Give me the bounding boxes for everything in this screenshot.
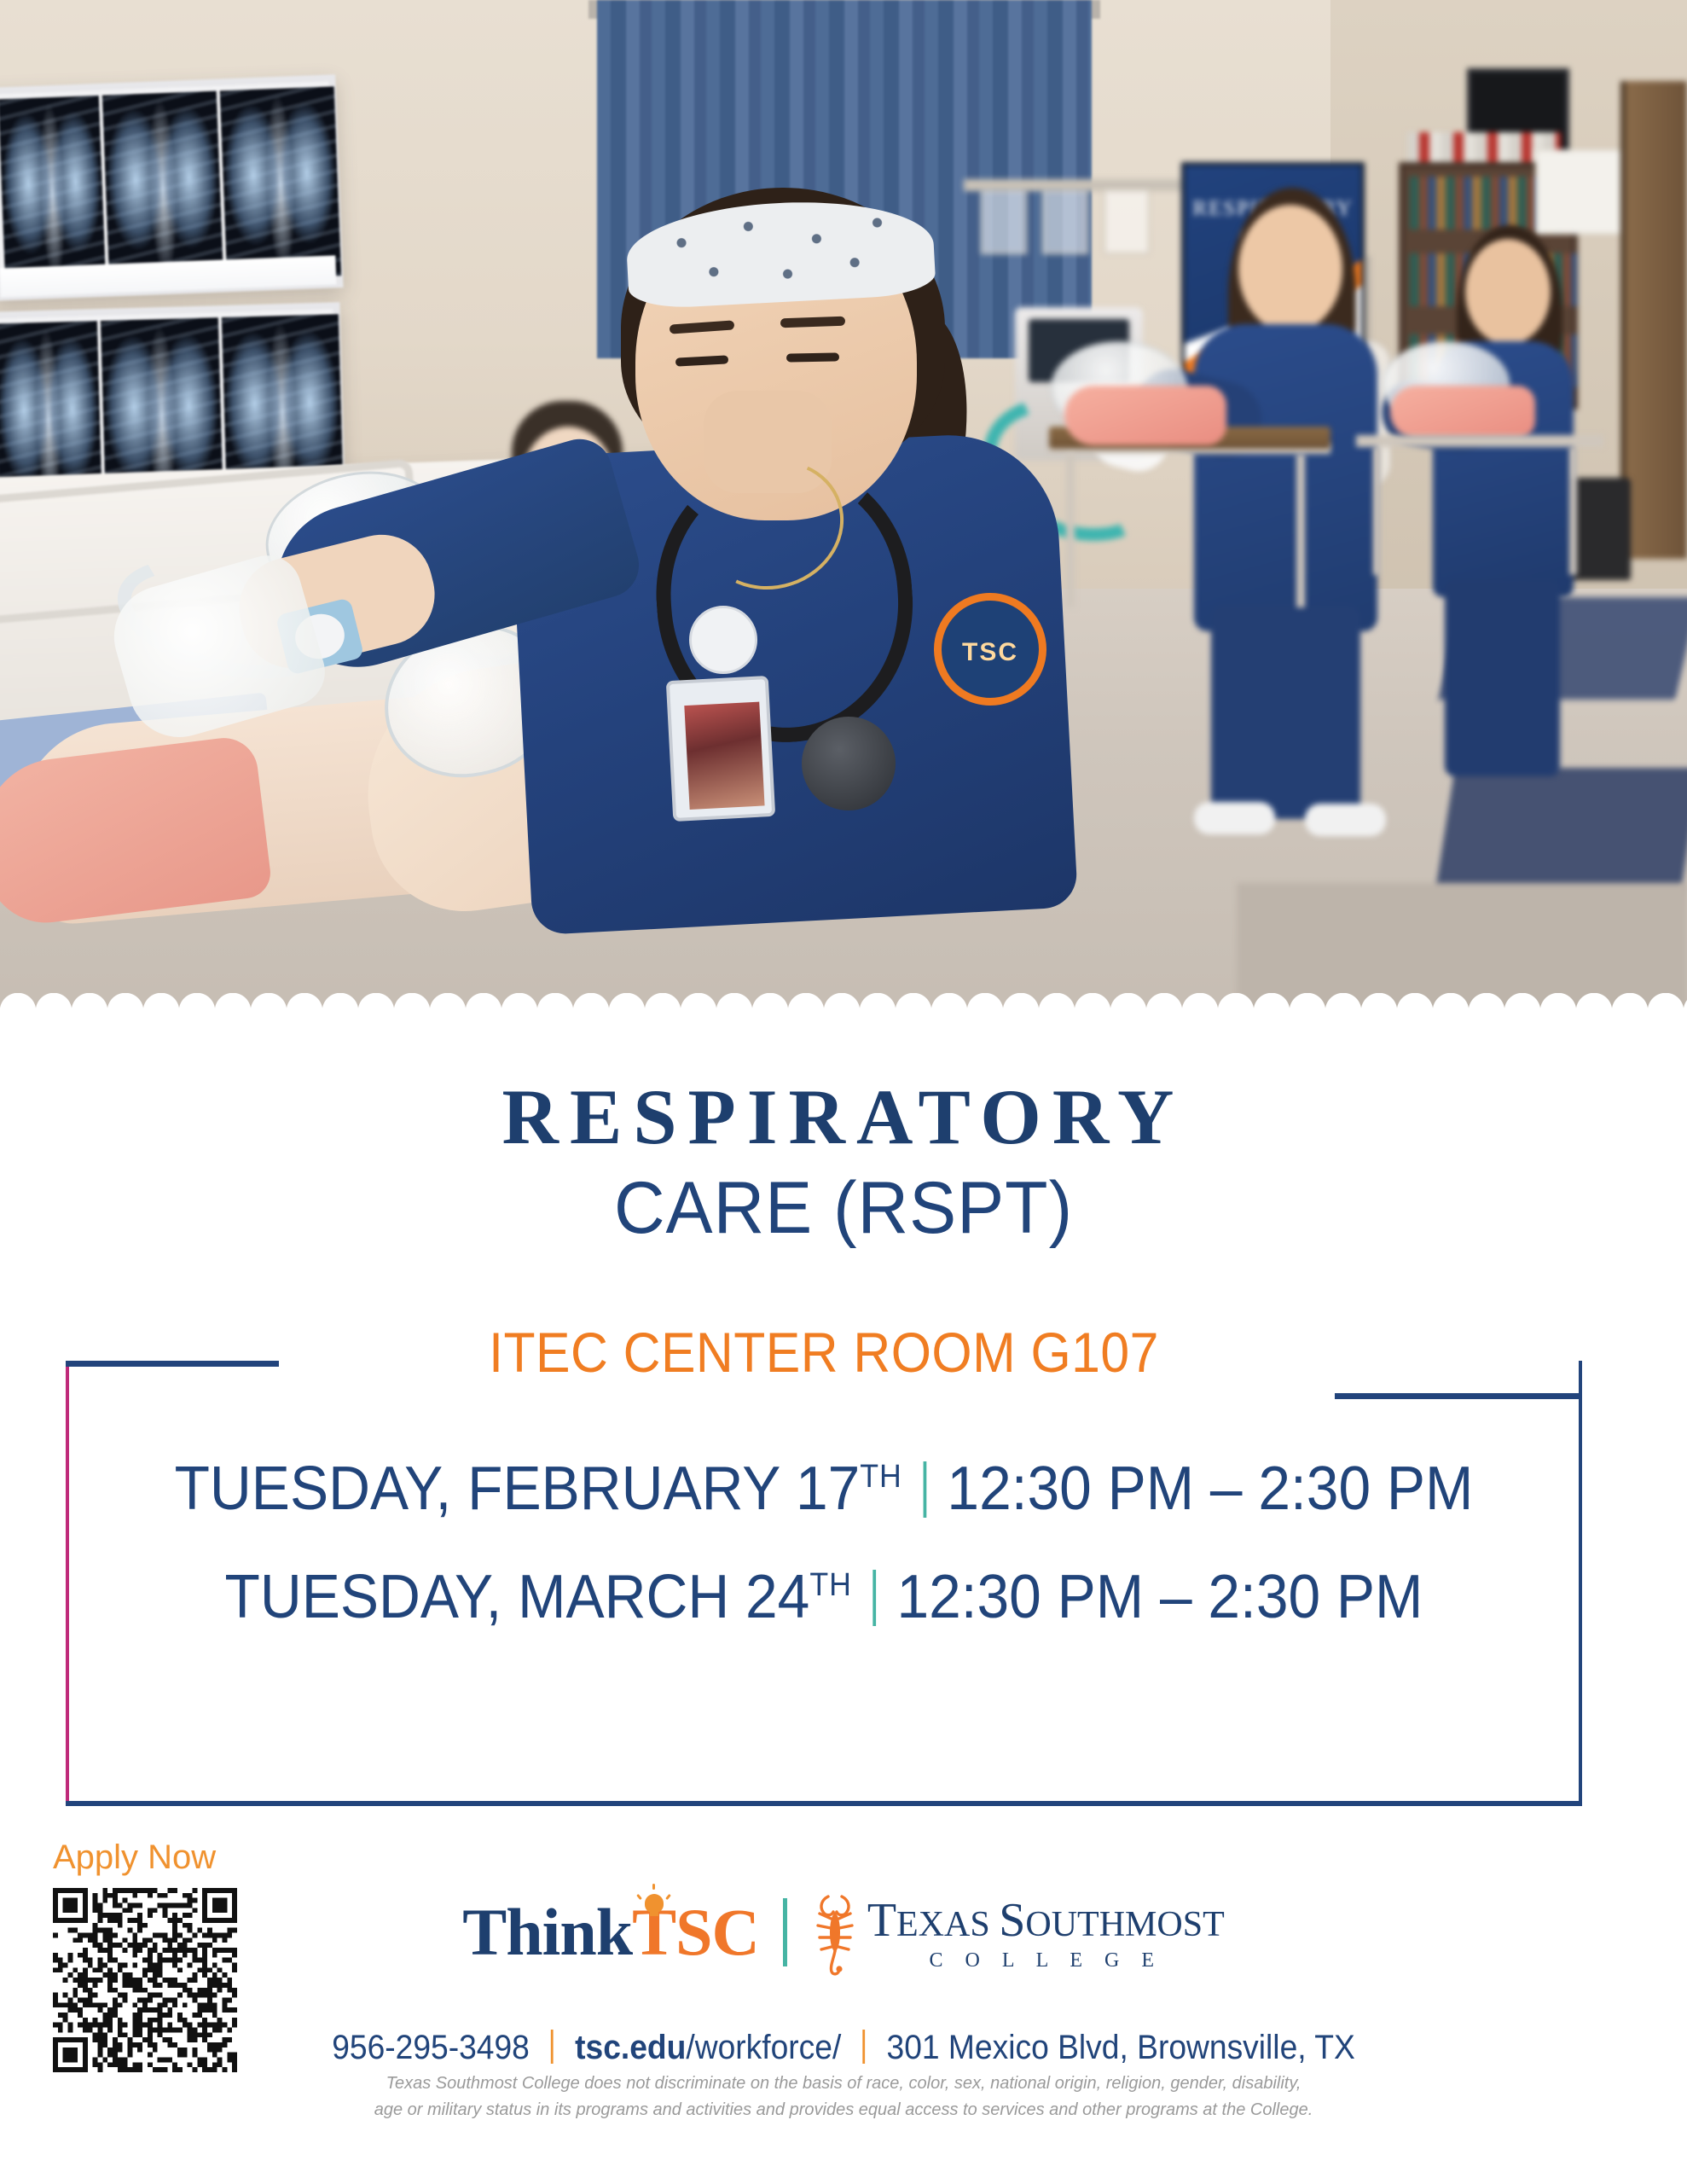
chest-xray: [220, 86, 341, 280]
thinktsc-logo: ThinkTSC: [462, 1894, 759, 1971]
session-time: 12:30 PM – 2:30 PM: [947, 1454, 1473, 1524]
college-name-line: TEXAS SOUTHMOST: [867, 1893, 1225, 1948]
badge-reel: [689, 606, 757, 674]
cart-leg: [1296, 454, 1305, 607]
session-day: TUESDAY, FEBRUARY 17: [175, 1454, 861, 1524]
session-day-suffix: TH: [860, 1459, 901, 1496]
logo-think-text: Think: [462, 1895, 632, 1969]
content-area: RESPIRATORY CARE (RSPT) ITEC CENTER ROOM…: [0, 1028, 1687, 2184]
program-title-line2: CARE (RSPT): [34, 1171, 1654, 1245]
cart-leg: [1569, 447, 1577, 575]
cart-top: [1356, 435, 1603, 447]
box-border-bottom: [66, 1801, 1582, 1806]
disclaimer-line-2: age or military status in its programs a…: [0, 2097, 1687, 2123]
chest-xray: [102, 91, 223, 285]
session-list: TUESDAY, FEBRUARY 17TH 12:30 PM – 2:30 P…: [66, 1453, 1582, 1670]
id-badge: [666, 676, 775, 822]
session-time: 12:30 PM – 2:30 PM: [896, 1562, 1423, 1632]
stethoscope-bell: [802, 717, 896, 810]
logo-divider: [783, 1898, 787, 1966]
lightbulb-icon: [641, 1889, 667, 1918]
cart-leg: [1373, 447, 1381, 575]
texas-southmost-college-logo: TEXAS SOUTHMOST C O L L E G E: [867, 1893, 1225, 1972]
room-location: ITEC CENTER ROOM G107: [126, 1320, 1522, 1385]
session-day: TUESDAY, MARCH 24: [225, 1562, 810, 1632]
contact-web-bold[interactable]: tsc.edu: [575, 2029, 686, 2066]
patch-text: TSC: [942, 638, 1039, 667]
contact-web-path[interactable]: /workforce/: [686, 2029, 841, 2066]
session-separator: [923, 1461, 926, 1518]
contact-separator: [551, 2030, 554, 2064]
headband: [624, 195, 936, 311]
disclaimer-line-1: Texas Southmost College does not discrim…: [0, 2071, 1687, 2097]
contact-address: 301 Mexico Blvd, Brownsville, TX: [887, 2029, 1355, 2066]
contact-separator: [863, 2030, 866, 2064]
nondiscrimination-disclaimer: Texas Southmost College does not discrim…: [0, 2071, 1687, 2123]
photo-scene: RESPIRATORY CARE TSC: [0, 0, 1687, 1028]
apply-now-label: Apply Now: [53, 1838, 216, 1877]
scalloped-divider: [0, 981, 1687, 1032]
contact-bar: 956-295-3498 tsc.edu/workforce/ 301 Mexi…: [59, 2024, 1628, 2067]
contact-phone[interactable]: 956-295-3498: [332, 2029, 530, 2066]
session-row: TUESDAY, MARCH 24TH 12:30 PM – 2:30 PM: [111, 1561, 1536, 1632]
tsc-shoulder-patch: TSC: [934, 593, 1046, 706]
manikin-chest: [0, 735, 273, 930]
session-separator: [872, 1570, 876, 1626]
college-word: C O L L E G E: [867, 1949, 1225, 1972]
chest-xray: [0, 96, 107, 288]
program-title-line1: RESPIRATORY: [0, 1077, 1687, 1156]
foreground-student: TSC: [520, 179, 1186, 887]
footer-logos: ThinkTSC: [0, 1881, 1687, 1984]
schedule-box: ITEC CENTER ROOM G107 TUESDAY, FEBRUARY …: [66, 1361, 1582, 1806]
session-row: TUESDAY, FEBRUARY 17TH 12:30 PM – 2:30 P…: [111, 1453, 1536, 1524]
hero-photo: RESPIRATORY CARE TSC: [0, 0, 1687, 1028]
xray-lightbox-top: [0, 74, 344, 301]
box-border-top-right: [1335, 1393, 1582, 1399]
session-day-suffix: TH: [809, 1567, 851, 1604]
lung-model: [1390, 386, 1535, 439]
scorpion-icon: [811, 1888, 859, 1977]
